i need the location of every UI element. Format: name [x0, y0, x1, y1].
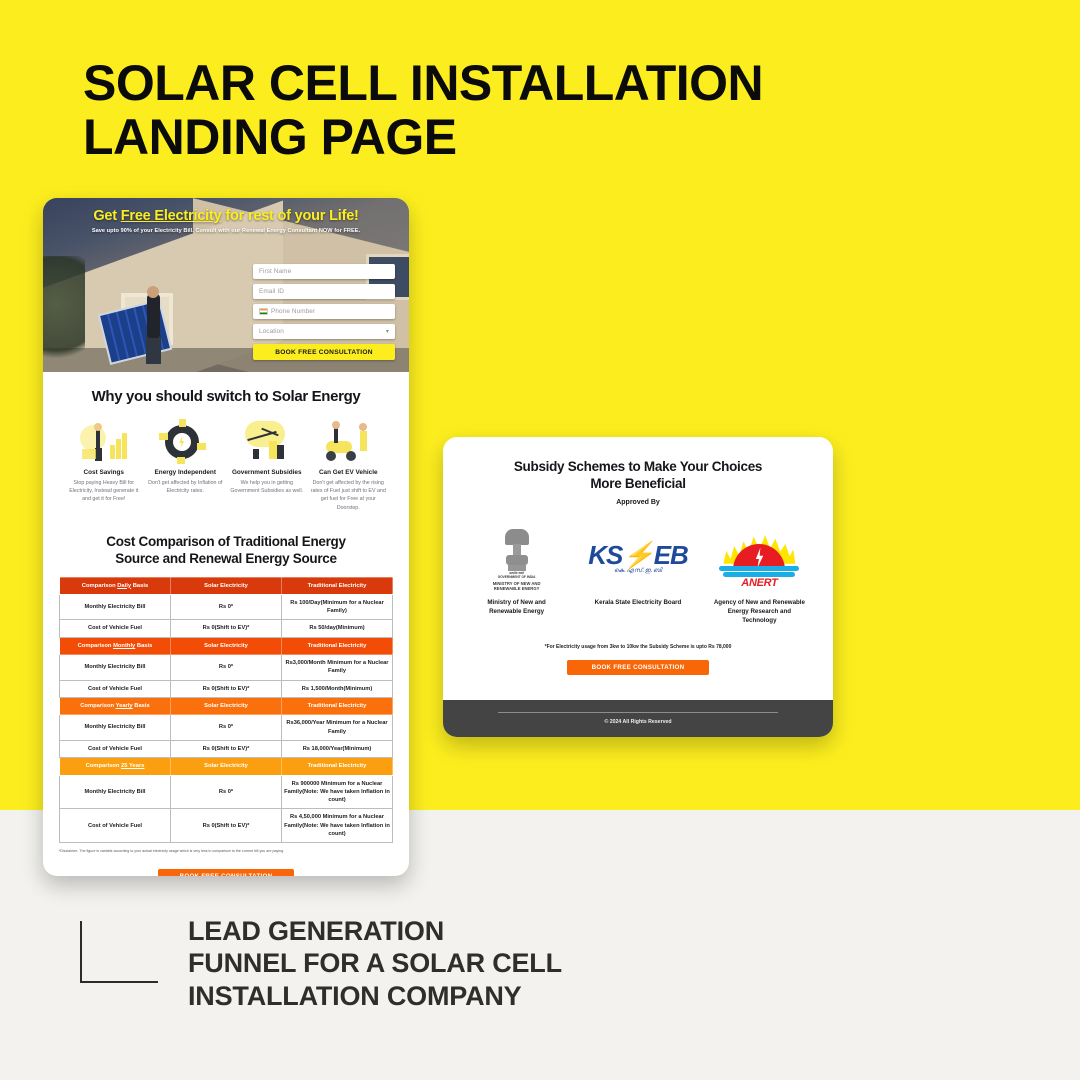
table-cell: Rs 0(Shift to EV)*	[171, 620, 282, 637]
table-cell: Monthly Electricity Bill	[60, 715, 171, 741]
comparison-cta-button[interactable]: BOOK FREE CONSULTATION	[158, 869, 294, 877]
table-cell: Rs 100/Day(Minimum for a Nuclear Family)	[282, 594, 393, 620]
table-header-cell: Comparison 25 Years	[60, 758, 171, 775]
table-group-header: Comparison Yearly BasisSolar Electricity…	[60, 697, 393, 714]
table-cell: Rs 0*	[171, 594, 282, 620]
anert-logo-icon: ANERT	[714, 522, 805, 594]
energy-independent-icon	[147, 419, 225, 463]
benefit-desc: Stop paying Heavy Bill for Electricity, …	[65, 479, 143, 504]
table-cell: Rs 0(Shift to EV)*	[171, 680, 282, 697]
landing-page-mockup: Get Free Electricity for rest of your Li…	[43, 198, 409, 876]
hero-headline-post: for rest of your Life!	[222, 208, 359, 224]
caption-line1: LEAD GENERATION	[188, 915, 562, 947]
hero-cta-button[interactable]: BOOK FREE CONSULTATION	[253, 344, 395, 360]
table-cell: Rs 0*	[171, 775, 282, 809]
installer-legs	[146, 334, 161, 364]
table-cell: Rs 0*	[171, 715, 282, 741]
table-cell: Cost of Vehicle Fuel	[60, 680, 171, 697]
benefit-card-energy-independent: Energy Independent Don't get affected by…	[147, 419, 225, 512]
approver-logos-row: सत्यमेव जयते GOVERNMENT OF INDIA MINISTR…	[443, 522, 833, 626]
table-row: Cost of Vehicle FuelRs 0(Shift to EV)*Rs…	[60, 680, 393, 697]
benefit-desc: Don't get affected by Inflation of Elect…	[147, 479, 225, 495]
benefit-title: Government Subsidies	[228, 469, 306, 476]
subsidy-title-line1: Subsidy Schemes to Make Your Choices	[473, 459, 803, 476]
table-cell: Cost of Vehicle Fuel	[60, 740, 171, 757]
table-row: Monthly Electricity BillRs 0*Rs 900000 M…	[60, 775, 393, 809]
subsidy-note: *For Electricity usage from 3kw to 10kw …	[443, 644, 833, 650]
table-header-cell: Traditional Electricity	[282, 577, 393, 594]
table-cell: Cost of Vehicle Fuel	[60, 620, 171, 637]
table-cell: Monthly Electricity Bill	[60, 655, 171, 681]
why-switch-title: Why you should switch to Solar Energy	[59, 388, 393, 405]
table-cell: Rs 4,50,000 Minimum for a Nuclear Family…	[282, 809, 393, 843]
benefit-title: Can Get EV Vehicle	[310, 469, 388, 476]
emblem-govt-label: GOVERNMENT OF INDIA	[497, 575, 537, 579]
subsidy-title-line2: More Beneficial	[473, 476, 803, 493]
table-row: Cost of Vehicle FuelRs 0(Shift to EV)*Rs…	[60, 809, 393, 843]
benefit-title: Cost Savings	[65, 469, 143, 476]
ev-vehicle-icon	[310, 419, 388, 463]
first-name-placeholder: First Name	[259, 268, 291, 275]
table-header-cell: Traditional Electricity	[282, 637, 393, 654]
subsidy-page-mockup: Subsidy Schemes to Make Your Choices Mor…	[443, 437, 833, 737]
email-input[interactable]: Email ID	[253, 284, 395, 299]
table-group-header: Comparison Daily BasisSolar ElectricityT…	[60, 577, 393, 594]
benefit-card-ev-vehicle: Can Get EV Vehicle Don't get affected by…	[310, 419, 388, 512]
benefit-title: Energy Independent	[147, 469, 225, 476]
poster-caption-text: LEAD GENERATION FUNNEL FOR A SOLAR CELL …	[188, 915, 562, 1012]
benefit-desc: We help you in getting Government Subsid…	[228, 479, 306, 495]
phone-placeholder: Phone Number	[271, 308, 315, 315]
hero-headline-underline: Free Electricity	[121, 208, 222, 224]
footer-divider	[498, 712, 778, 713]
approver-caption: Kerala State Electricity Board	[588, 598, 688, 607]
hero-subheadline: Save upto 90% of your Electricity Bill. …	[57, 228, 395, 234]
benefit-card-cost-savings: Cost Savings Stop paying Heavy Bill for …	[65, 419, 143, 512]
phone-input[interactable]: Phone Number	[253, 304, 395, 319]
caption-line2: FUNNEL FOR A SOLAR CELL	[188, 947, 562, 979]
table-header-cell: Solar Electricity	[171, 577, 282, 594]
poster-caption: LEAD GENERATION FUNNEL FOR A SOLAR CELL …	[80, 915, 562, 1012]
table-header-cell: Comparison Yearly Basis	[60, 697, 171, 714]
benefits-row: Cost Savings Stop paying Heavy Bill for …	[59, 419, 393, 512]
cost-comparison-title: Cost Comparison of Traditional Energy So…	[59, 534, 393, 568]
table-header-cell: Solar Electricity	[171, 637, 282, 654]
table-cell: Monthly Electricity Bill	[60, 775, 171, 809]
anert-wordmark: ANERT	[717, 577, 801, 589]
hero-headline-pre: Get	[93, 208, 120, 224]
table-row: Monthly Electricity BillRs 0*Rs 100/Day(…	[60, 594, 393, 620]
tree-foliage	[43, 256, 85, 372]
government-subsidies-icon	[228, 419, 306, 463]
table-cell: Rs 0(Shift to EV)*	[171, 740, 282, 757]
approver-anert: ANERT Agency of New and Renewable Energy…	[714, 522, 805, 626]
table-cell: Monthly Electricity Bill	[60, 594, 171, 620]
installer-body	[147, 294, 160, 338]
cost-comparison-title-line1: Cost Comparison of Traditional Energy	[59, 534, 393, 551]
table-cell: Rs 18,000/Year(Minimum)	[282, 740, 393, 757]
chevron-down-icon: ▾	[386, 328, 389, 335]
table-cell: Rs 50/day(Minimum)	[282, 620, 393, 637]
table-cell: Rs 1,500/Month(Minimum)	[282, 680, 393, 697]
approver-caption: Ministry of New and Renewable Energy	[471, 598, 562, 617]
first-name-input[interactable]: First Name	[253, 264, 395, 279]
table-cell: Rs36,000/Year Minimum for a Nuclear Fami…	[282, 715, 393, 741]
table-header-cell: Comparison Daily Basis	[60, 577, 171, 594]
table-group-header: Comparison Monthly BasisSolar Electricit…	[60, 637, 393, 654]
table-header-cell: Solar Electricity	[171, 697, 282, 714]
table-cell: Cost of Vehicle Fuel	[60, 809, 171, 843]
poster-title-line2: LANDING PAGE	[83, 110, 923, 164]
table-row: Monthly Electricity BillRs 0*Rs3,000/Mon…	[60, 655, 393, 681]
location-select[interactable]: Location ▾	[253, 324, 395, 339]
hero-headline: Get Free Electricity for rest of your Li…	[57, 208, 395, 224]
table-header-cell: Solar Electricity	[171, 758, 282, 775]
subsidy-cta-button[interactable]: BOOK FREE CONSULTATION	[567, 660, 709, 675]
bracket-icon	[80, 921, 158, 983]
table-disclaimer: *Disclaimer- The figure is variable acco…	[59, 849, 393, 854]
subsidy-footer: © 2024 All Rights Reserved	[443, 700, 833, 737]
table-row: Cost of Vehicle FuelRs 0(Shift to EV)*Rs…	[60, 740, 393, 757]
email-placeholder: Email ID	[259, 288, 284, 295]
table-group-header: Comparison 25 YearsSolar ElectricityTrad…	[60, 758, 393, 775]
table-header-cell: Traditional Electricity	[282, 758, 393, 775]
lead-capture-form: First Name Email ID Phone Number Locatio…	[253, 264, 395, 360]
caption-line3: INSTALLATION COMPANY	[188, 980, 562, 1012]
approver-kseb: KS⚡EB കെ.എസ്.ഇ.ബി Kerala State Electrici…	[588, 522, 688, 626]
poster-title: SOLAR CELL INSTALLATION LANDING PAGE	[83, 56, 923, 164]
installer-head	[147, 286, 159, 298]
table-header-cell: Traditional Electricity	[282, 697, 393, 714]
table-cell: Rs 900000 Minimum for a Nuclear Family(N…	[282, 775, 393, 809]
why-switch-section: Why you should switch to Solar Energy	[43, 388, 409, 876]
india-emblem-icon: सत्यमेव जयते GOVERNMENT OF INDIA MINISTR…	[471, 522, 562, 594]
poster-title-line1: SOLAR CELL INSTALLATION	[83, 56, 923, 110]
cost-savings-icon	[65, 419, 143, 463]
cost-comparison-table: Comparison Daily BasisSolar ElectricityT…	[59, 577, 393, 844]
location-placeholder: Location	[259, 328, 284, 335]
hero-section: Get Free Electricity for rest of your Li…	[43, 198, 409, 372]
table-cell: Rs3,000/Month Minimum for a Nuclear Fami…	[282, 655, 393, 681]
benefit-desc: Don't get affected by the rising rates o…	[310, 479, 388, 512]
approver-caption: Agency of New and Renewable Energy Resea…	[714, 598, 805, 626]
table-row: Cost of Vehicle FuelRs 0(Shift to EV)*Rs…	[60, 620, 393, 637]
approver-ministry: सत्यमेव जयते GOVERNMENT OF INDIA MINISTR…	[471, 522, 562, 626]
benefit-card-government-subsidies: Government Subsidies We help you in gett…	[228, 419, 306, 512]
table-row: Monthly Electricity BillRs 0*Rs36,000/Ye…	[60, 715, 393, 741]
approved-by-label: Approved By	[443, 499, 833, 506]
copyright-text: © 2024 All Rights Reserved	[604, 719, 671, 725]
subsidy-title: Subsidy Schemes to Make Your Choices Mor…	[443, 459, 833, 493]
kseb-logo-icon: KS⚡EB കെ.എസ്.ഇ.ബി	[588, 522, 688, 594]
table-header-cell: Comparison Monthly Basis	[60, 637, 171, 654]
table-cell: Rs 0*	[171, 655, 282, 681]
cost-comparison-title-line2: Source and Renewal Energy Source	[59, 551, 393, 568]
emblem-ministry-label: MINISTRY OF NEW AND RENEWABLE ENERGY	[489, 581, 545, 592]
india-flag-icon	[259, 308, 268, 315]
table-cell: Rs 0(Shift to EV)*	[171, 809, 282, 843]
